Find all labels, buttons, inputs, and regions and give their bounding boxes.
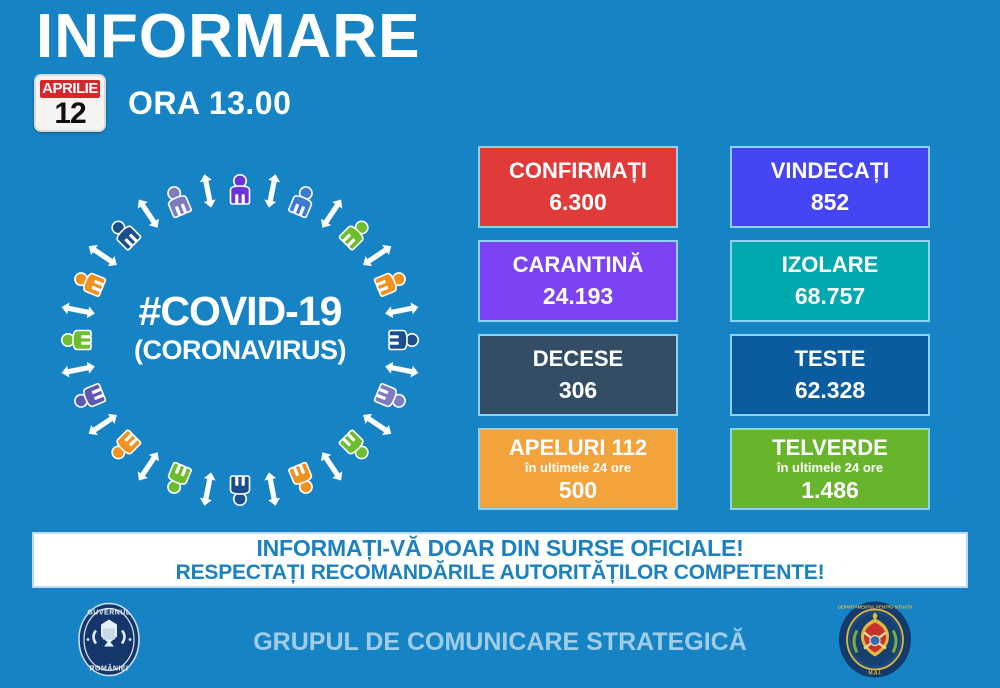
- double-arrow-icon: [317, 449, 346, 484]
- double-arrow-icon: [134, 196, 163, 231]
- stat-label: TELVERDE: [772, 435, 888, 461]
- notice-line-1: INFORMAȚI-VĂ DOAR DIN SURSE OFICIALE!: [256, 535, 743, 561]
- notice-line-2: RESPECTAȚI RECOMANDĂRILE AUTORITĂȚILOR C…: [176, 561, 825, 585]
- covid-circle-graphic: #COVID-19 (CORONAVIRUS): [30, 160, 450, 520]
- person-icon: [107, 429, 141, 463]
- double-arrow-icon: [360, 241, 395, 270]
- person-icon: [288, 462, 317, 496]
- stat-box-confirmati: CONFIRMAȚI6.300: [478, 146, 678, 228]
- person-icon: [163, 462, 192, 496]
- person-icon: [339, 216, 373, 250]
- svg-text:GUVERNUL: GUVERNUL: [87, 610, 131, 617]
- stat-value: 6.300: [549, 188, 607, 216]
- person-icon: [72, 268, 106, 297]
- date-row: APRILIE 12 ORA 13.00: [34, 74, 291, 132]
- person-icon: [389, 331, 418, 350]
- double-arrow-icon: [60, 301, 96, 319]
- person-icon: [374, 383, 408, 412]
- stat-value: 62.328: [795, 376, 865, 404]
- stat-box-apeluri-112: APELURI 112în ultimele 24 ore500: [478, 428, 678, 510]
- double-arrow-icon: [317, 196, 346, 231]
- stat-value: 306: [559, 376, 597, 404]
- government-seal-icon: GUVERNUL ROMÂNIEI: [78, 603, 140, 682]
- person-icon: [339, 429, 373, 463]
- svg-text:DEPARTAMENTUL PENTRU SITUAȚII: DEPARTAMENTUL PENTRU SITUAȚII: [838, 605, 912, 610]
- stat-box-carantina: CARANTINĂ24.193: [478, 240, 678, 322]
- person-icon: [231, 175, 250, 204]
- footer-label: GRUPUL DE COMUNICARE STRATEGICĂ: [253, 628, 747, 657]
- stat-label: IZOLARE: [782, 252, 879, 278]
- circle-figures-svg: [30, 160, 450, 520]
- person-icon: [72, 383, 106, 412]
- stat-value: 500: [559, 476, 597, 504]
- double-arrow-icon: [85, 410, 120, 439]
- dsu-emblem-icon: DEPARTAMENTUL PENTRU SITUAȚII M.A.I.: [838, 601, 912, 684]
- informare-poster: INFORMARE APRILIE 12 ORA 13.00 #COVID-19…: [0, 0, 1000, 688]
- double-arrow-icon: [199, 471, 217, 507]
- stat-value: 852: [811, 188, 849, 216]
- stat-value: 68.757: [795, 282, 865, 310]
- page-title: INFORMARE: [36, 4, 420, 69]
- footer: GUVERNUL ROMÂNIEI GRUPUL DE COMUNICARE S…: [0, 596, 1000, 688]
- stats-grid: CONFIRMAȚI6.300VINDECAȚI852CARANTINĂ24.1…: [478, 146, 930, 510]
- stat-value: 24.193: [543, 282, 613, 310]
- person-icon: [288, 184, 317, 218]
- double-arrow-icon: [134, 449, 163, 484]
- double-arrow-icon: [85, 241, 120, 270]
- double-arrow-icon: [384, 301, 420, 319]
- notice-banner: INFORMAȚI-VĂ DOAR DIN SURSE OFICIALE! RE…: [32, 532, 968, 588]
- stat-value: 1.486: [801, 476, 859, 504]
- person-icon: [107, 216, 141, 250]
- stat-box-telverde: TELVERDEîn ultimele 24 ore1.486: [730, 428, 930, 510]
- person-icon: [231, 476, 250, 505]
- double-arrow-icon: [263, 471, 281, 507]
- stat-label: APELURI 112: [509, 435, 647, 461]
- person-icon: [163, 184, 192, 218]
- svg-text:ROMÂNIEI: ROMÂNIEI: [90, 664, 129, 673]
- stat-label: CONFIRMAȚI: [509, 158, 647, 184]
- hour-label: ORA 13.00: [128, 85, 291, 122]
- double-arrow-icon: [360, 410, 395, 439]
- double-arrow-icon: [60, 361, 96, 379]
- calendar-icon: APRILIE 12: [34, 74, 106, 132]
- stat-label: CARANTINĂ: [513, 252, 644, 278]
- double-arrow-icon: [263, 173, 281, 209]
- stat-box-vindecati: VINDECAȚI852: [730, 146, 930, 228]
- svg-text:M.A.I.: M.A.I.: [868, 671, 882, 677]
- double-arrow-icon: [384, 360, 420, 378]
- person-icon: [62, 331, 91, 350]
- stat-label: VINDECAȚI: [771, 158, 890, 184]
- calendar-month-label: APRILIE: [40, 80, 100, 98]
- stat-box-teste: TESTE62.328: [730, 334, 930, 416]
- stat-box-izolare: IZOLARE68.757: [730, 240, 930, 322]
- stat-box-decese: DECESE306: [478, 334, 678, 416]
- stat-subtitle: în ultimele 24 ore: [525, 460, 631, 475]
- person-icon: [374, 268, 408, 297]
- stat-label: DECESE: [533, 346, 623, 372]
- stat-label: TESTE: [795, 346, 866, 372]
- calendar-day-label: 12: [54, 98, 85, 130]
- stat-subtitle: în ultimele 24 ore: [777, 460, 883, 475]
- double-arrow-icon: [199, 173, 217, 209]
